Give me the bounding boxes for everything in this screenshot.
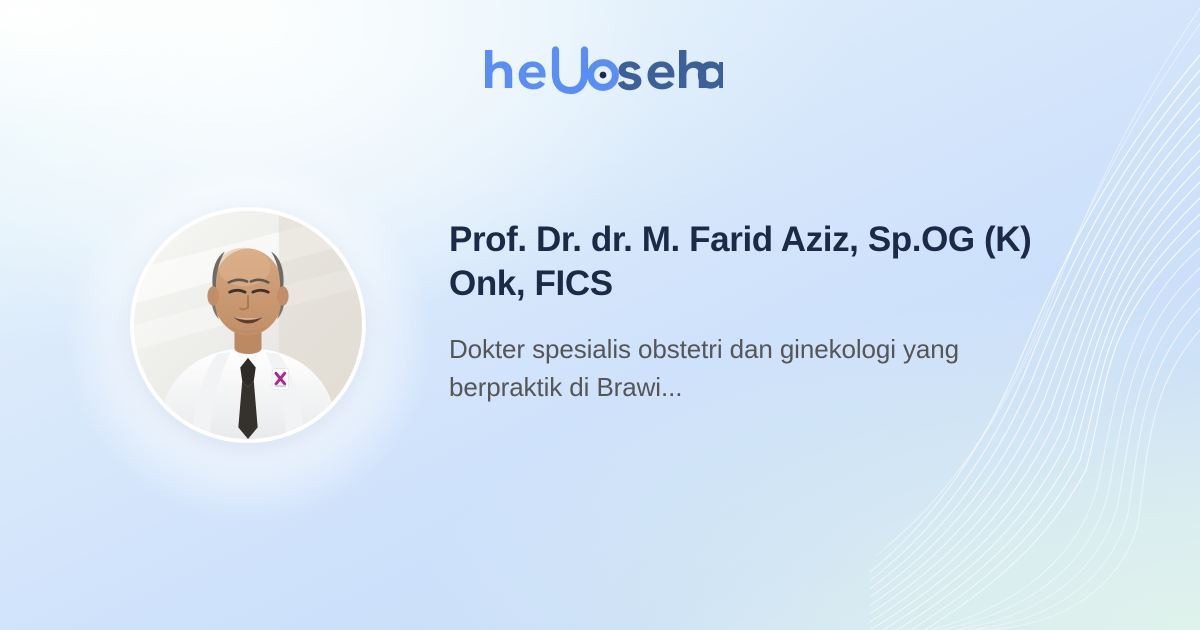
doctor-description: Dokter spesialis obstetri dan ginekologi… (449, 330, 1049, 406)
doctor-name: Prof. Dr. dr. M. Farid Aziz, Sp.OG (K) O… (449, 218, 1049, 306)
social-share-card: Prof. Dr. dr. M. Farid Aziz, Sp.OG (K) O… (0, 0, 1200, 630)
doctor-avatar (130, 207, 366, 443)
hellosehat-logo[interactable] (483, 44, 723, 100)
doctor-info: Prof. Dr. dr. M. Farid Aziz, Sp.OG (K) O… (449, 218, 1049, 406)
